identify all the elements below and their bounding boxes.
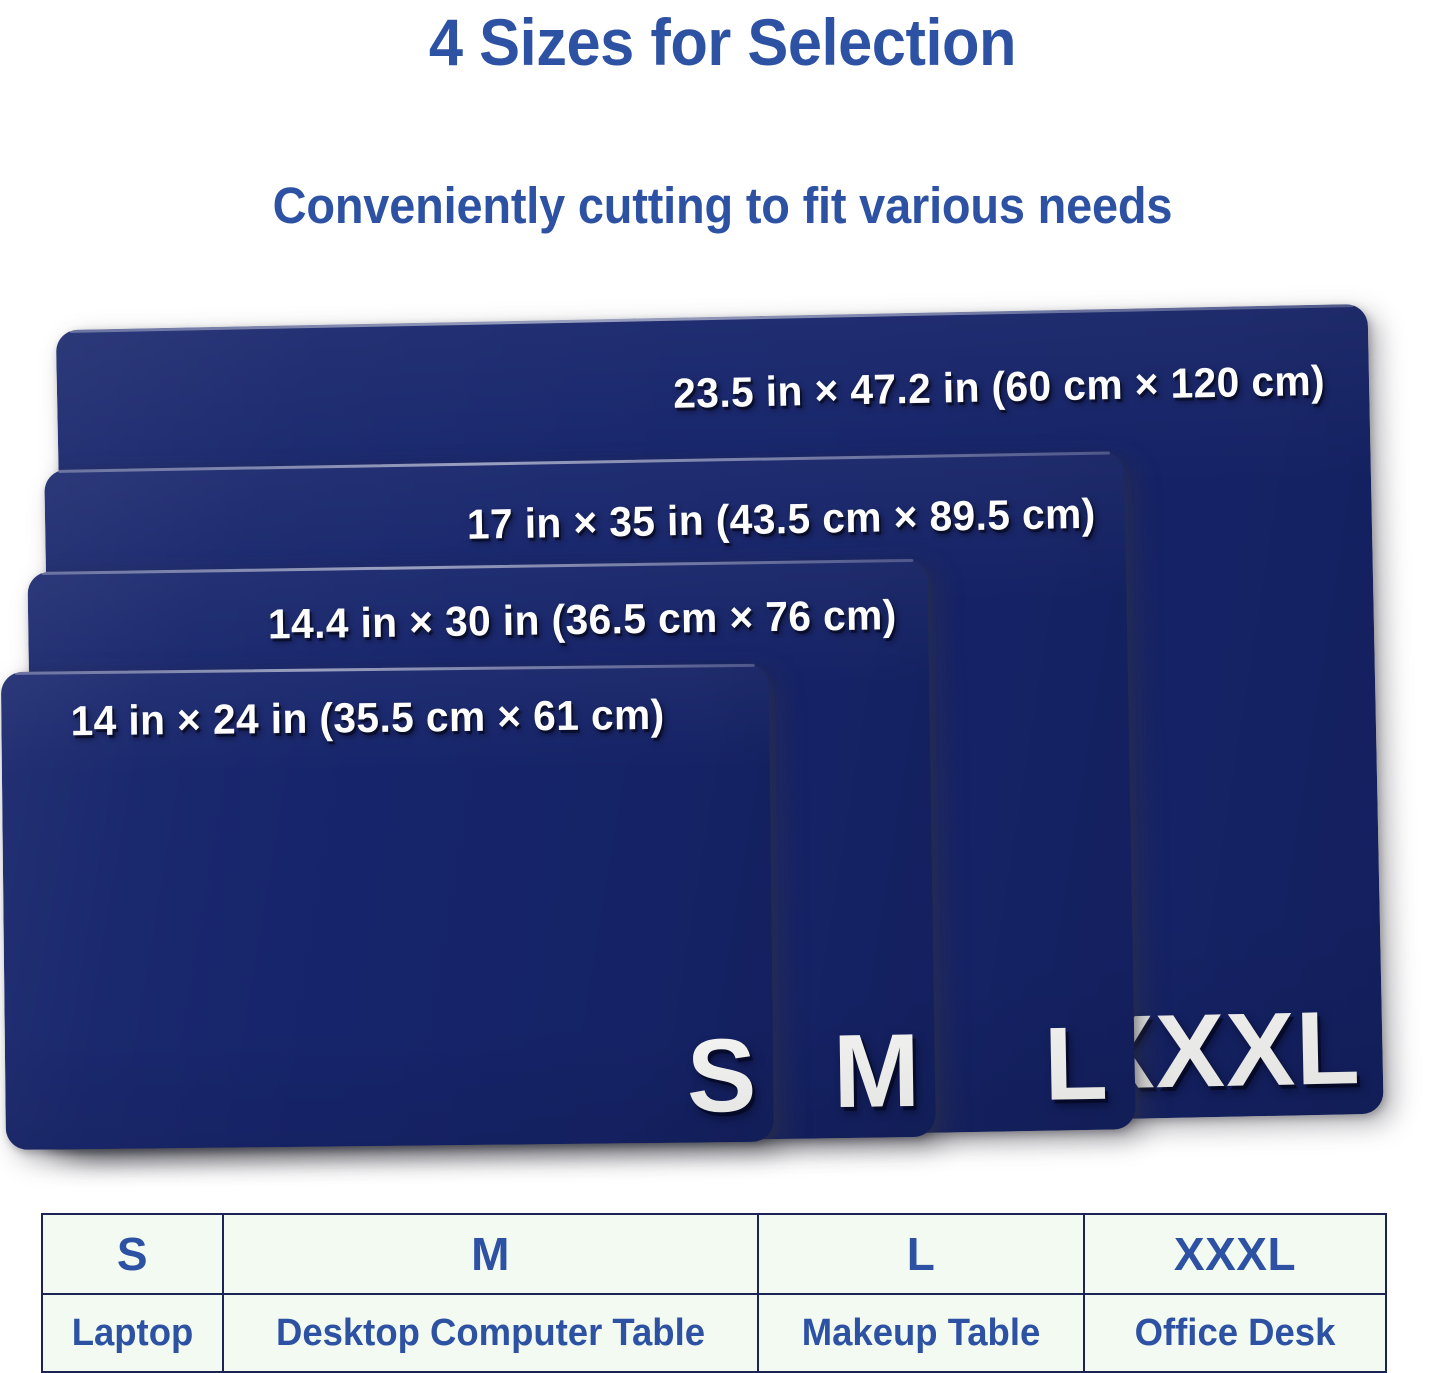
table-cell-size-xxxl: XXXL [1084,1214,1386,1294]
mat-s: 14 in × 24 in (35.5 cm × 61 cm) S [1,664,774,1150]
size-comparison-table: S M L XXXL Laptop Desktop Computer Table… [41,1213,1387,1373]
mat-l-dimension-label: 17 in × 35 in (43.5 cm × 89.5 cm) [466,490,1096,549]
table-cell-size-m: M [223,1214,758,1294]
mat-xxxl-dimension-label: 23.5 in × 47.2 in (60 cm × 120 cm) [673,357,1326,418]
mat-m-dimension-label: 14.4 in × 30 in (36.5 cm × 76 cm) [267,591,896,648]
mat-size-stack: 23.5 in × 47.2 in (60 cm × 120 cm) XXXL … [0,0,1445,1210]
table-row-uses: Laptop Desktop Computer Table Makeup Tab… [42,1294,1386,1372]
mat-m-size-letter: M [833,1019,922,1124]
table-cell-size-s: S [42,1214,223,1294]
mat-l-size-letter: L [1043,1012,1109,1117]
table-cell-use-xxxl: Office Desk [1090,1294,1380,1372]
table-row-sizes: S M L XXXL [42,1214,1386,1294]
table-cell-size-l: L [758,1214,1084,1294]
table-cell-use-l: Makeup Table [765,1294,1078,1372]
table-cell-use-m: Desktop Computer Table [234,1294,748,1372]
mat-s-size-letter: S [686,1024,757,1129]
mat-s-dimension-label: 14 in × 24 in (35.5 cm × 61 cm) [70,691,665,745]
table-cell-use-s: Laptop [46,1294,220,1372]
